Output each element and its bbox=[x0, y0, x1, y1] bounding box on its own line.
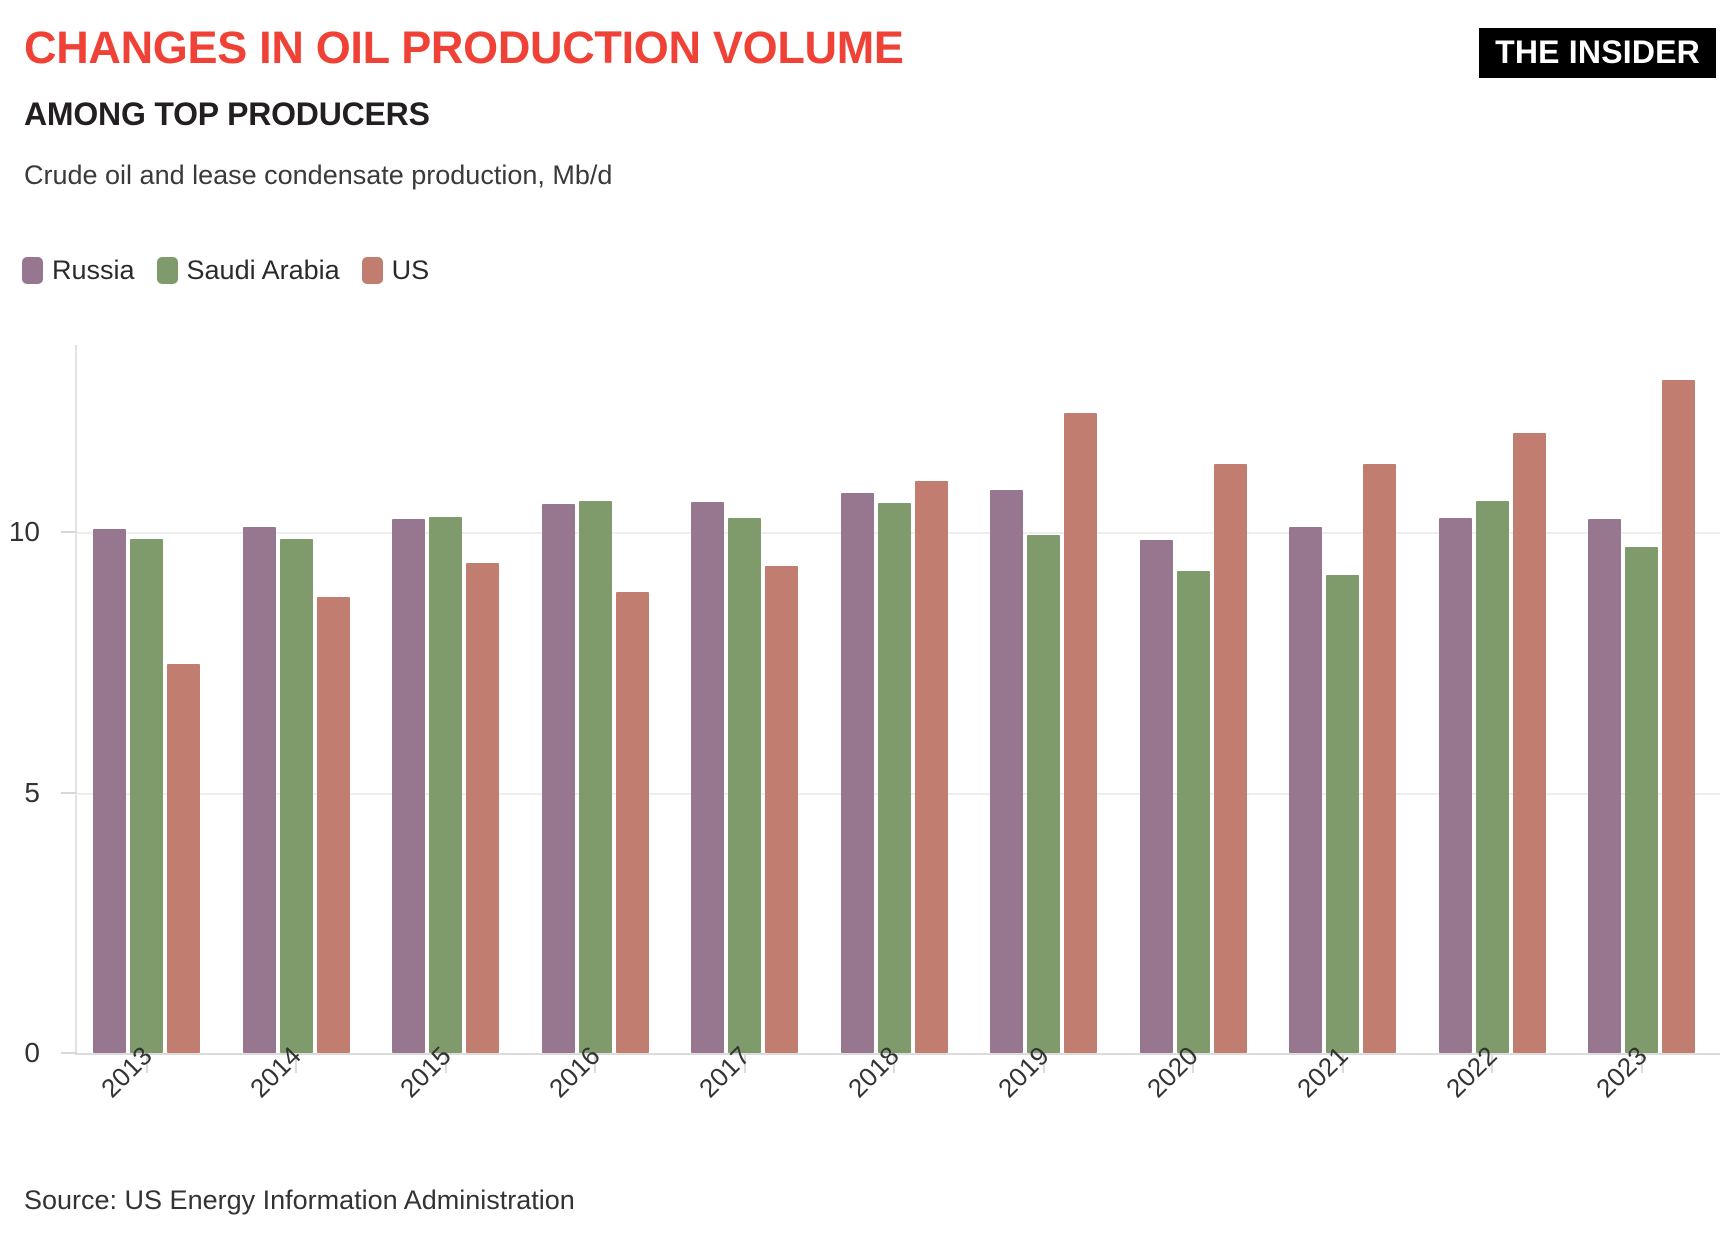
x-axis-tick-label-2016: 2016 bbox=[543, 1040, 607, 1104]
legend-swatch-icon bbox=[22, 257, 43, 284]
x-axis-tick-mark bbox=[1491, 1055, 1493, 1073]
legend-label: Russia bbox=[52, 255, 135, 286]
bar-saudi-arabia-2013[interactable] bbox=[130, 539, 163, 1053]
bar-russia-2020[interactable] bbox=[1140, 540, 1173, 1053]
bar-russia-2013[interactable] bbox=[93, 529, 126, 1053]
legend-swatch-icon bbox=[362, 257, 383, 284]
x-axis-tick-mark bbox=[1192, 1055, 1194, 1073]
page-subtitle: AMONG TOP PRODUCERS bbox=[24, 96, 430, 133]
y-axis-tick-label: 5 bbox=[0, 777, 58, 809]
bar-saudi-arabia-2016[interactable] bbox=[579, 501, 612, 1053]
bar-saudi-arabia-2019[interactable] bbox=[1027, 535, 1060, 1053]
bar-us-2020[interactable] bbox=[1214, 464, 1247, 1053]
bar-group-2019 bbox=[990, 345, 1097, 1053]
source-note: Source: US Energy Information Administra… bbox=[24, 1185, 575, 1216]
bar-russia-2016[interactable] bbox=[542, 504, 575, 1053]
bar-us-2016[interactable] bbox=[616, 592, 649, 1053]
x-axis-tick-label-2021: 2021 bbox=[1291, 1040, 1355, 1104]
bar-russia-2017[interactable] bbox=[691, 502, 724, 1053]
bar-group-2018 bbox=[841, 345, 948, 1053]
bar-russia-2022[interactable] bbox=[1439, 518, 1472, 1053]
bar-russia-2018[interactable] bbox=[841, 493, 874, 1053]
x-axis-tick-label-2022: 2022 bbox=[1440, 1040, 1504, 1104]
bar-russia-2019[interactable] bbox=[990, 490, 1023, 1053]
axis-baseline bbox=[75, 1053, 1720, 1055]
bar-group-2016 bbox=[542, 345, 649, 1053]
bar-group-2022 bbox=[1439, 345, 1546, 1053]
bar-us-2023[interactable] bbox=[1662, 380, 1695, 1053]
x-axis-tick-mark bbox=[1043, 1055, 1045, 1073]
x-axis-tick-label-2014: 2014 bbox=[244, 1040, 308, 1104]
bar-saudi-arabia-2014[interactable] bbox=[280, 539, 313, 1053]
x-axis-tick-label-2023: 2023 bbox=[1590, 1040, 1654, 1104]
x-axis-tick-mark bbox=[744, 1055, 746, 1073]
chart-header: CHANGES IN OIL PRODUCTION VOLUME AMONG T… bbox=[0, 0, 1732, 230]
brand-logo: THE INSIDER bbox=[1479, 28, 1716, 78]
plot-area bbox=[75, 345, 1720, 1053]
x-axis-tick-label-2015: 2015 bbox=[394, 1040, 458, 1104]
legend-label: Saudi Arabia bbox=[187, 255, 340, 286]
x-axis-tick-mark bbox=[445, 1055, 447, 1073]
bar-russia-2015[interactable] bbox=[392, 519, 425, 1053]
x-axis-tick-label-2018: 2018 bbox=[842, 1040, 906, 1104]
bar-russia-2014[interactable] bbox=[243, 527, 276, 1053]
bar-us-2021[interactable] bbox=[1363, 464, 1396, 1053]
bar-saudi-arabia-2021[interactable] bbox=[1326, 575, 1359, 1053]
legend-item-saudi-arabia[interactable]: Saudi Arabia bbox=[157, 255, 340, 286]
x-axis-tick-mark bbox=[295, 1055, 297, 1073]
bar-group-2017 bbox=[691, 345, 798, 1053]
y-axis-tick-mark bbox=[61, 792, 77, 794]
x-axis-tick-label-2013: 2013 bbox=[95, 1040, 159, 1104]
x-axis-tick-label-2019: 2019 bbox=[992, 1040, 1056, 1104]
bar-saudi-arabia-2017[interactable] bbox=[728, 518, 761, 1053]
bar-russia-2021[interactable] bbox=[1289, 527, 1322, 1053]
y-axis-tick-label: 0 bbox=[0, 1037, 58, 1069]
x-axis-tick-mark bbox=[594, 1055, 596, 1073]
x-axis-tick-mark bbox=[1342, 1055, 1344, 1073]
bar-saudi-arabia-2015[interactable] bbox=[429, 517, 462, 1053]
y-axis-line bbox=[75, 345, 77, 1055]
bar-saudi-arabia-2018[interactable] bbox=[878, 503, 911, 1053]
bar-saudi-arabia-2022[interactable] bbox=[1476, 501, 1509, 1053]
bar-group-2014 bbox=[243, 345, 350, 1053]
bar-group-2021 bbox=[1289, 345, 1396, 1053]
legend-item-us[interactable]: US bbox=[362, 255, 430, 286]
x-axis-tick-label-2020: 2020 bbox=[1141, 1040, 1205, 1104]
legend-swatch-icon bbox=[157, 257, 178, 284]
bar-us-2018[interactable] bbox=[915, 481, 948, 1053]
gridline bbox=[75, 532, 1720, 534]
bar-us-2022[interactable] bbox=[1513, 433, 1546, 1053]
bar-us-2015[interactable] bbox=[466, 563, 499, 1053]
legend-item-russia[interactable]: Russia bbox=[22, 255, 135, 286]
bar-us-2013[interactable] bbox=[167, 664, 200, 1053]
chart-legend: RussiaSaudi ArabiaUS bbox=[22, 252, 429, 288]
y-axis-tick-label: 10 bbox=[0, 516, 58, 548]
y-axis-tick-mark bbox=[61, 1052, 77, 1054]
chart-description: Crude oil and lease condensate productio… bbox=[24, 160, 612, 191]
bar-group-2013 bbox=[93, 345, 200, 1053]
bar-us-2019[interactable] bbox=[1064, 413, 1097, 1053]
bar-group-2015 bbox=[392, 345, 499, 1053]
gridline bbox=[75, 793, 1720, 795]
x-axis-tick-mark bbox=[893, 1055, 895, 1073]
legend-label: US bbox=[392, 255, 430, 286]
bar-us-2014[interactable] bbox=[317, 597, 350, 1053]
bar-group-2023 bbox=[1588, 345, 1695, 1053]
y-axis-tick-mark bbox=[61, 531, 77, 533]
bar-saudi-arabia-2023[interactable] bbox=[1625, 547, 1658, 1053]
bar-saudi-arabia-2020[interactable] bbox=[1177, 571, 1210, 1053]
x-axis-tick-mark bbox=[146, 1055, 148, 1073]
bar-russia-2023[interactable] bbox=[1588, 519, 1621, 1053]
bar-us-2017[interactable] bbox=[765, 566, 798, 1053]
x-axis-tick-mark bbox=[1641, 1055, 1643, 1073]
x-axis-tick-label-2017: 2017 bbox=[693, 1040, 757, 1104]
page-title: CHANGES IN OIL PRODUCTION VOLUME bbox=[24, 22, 904, 74]
bar-group-2020 bbox=[1140, 345, 1247, 1053]
